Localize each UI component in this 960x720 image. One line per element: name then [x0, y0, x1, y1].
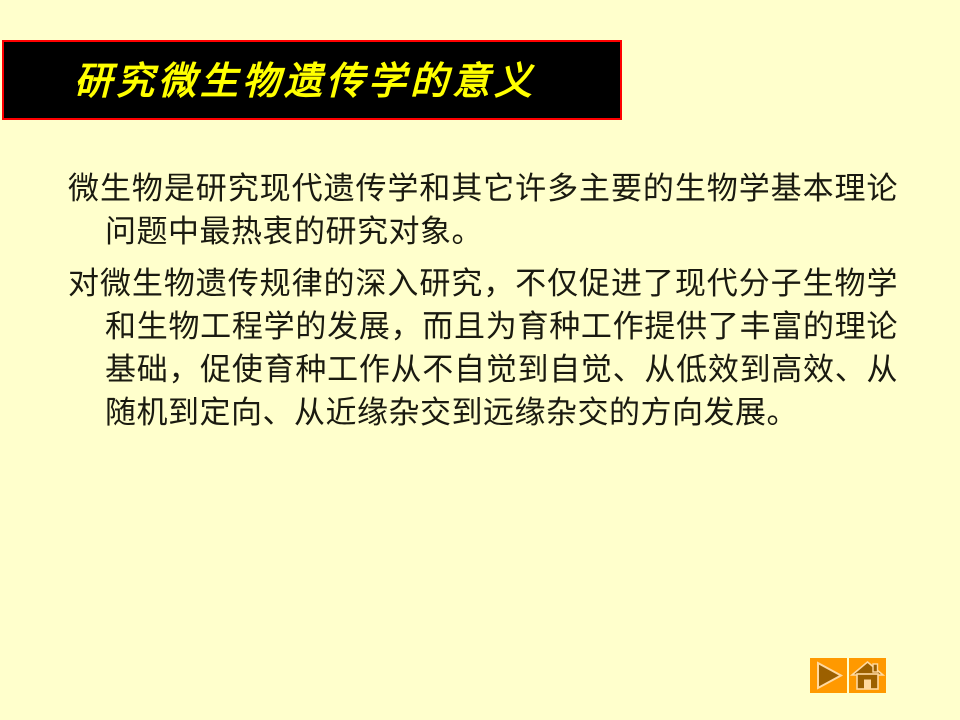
navigation-buttons	[810, 658, 886, 693]
next-slide-button[interactable]	[810, 658, 847, 693]
body-content: 微生物是研究现代遗传学和其它许多主要的生物学基本理论问题中最热衷的研究对象。 对…	[58, 168, 898, 444]
body-paragraph: 微生物是研究现代遗传学和其它许多主要的生物学基本理论问题中最热衷的研究对象。	[58, 168, 898, 254]
play-triangle-icon	[810, 658, 847, 693]
home-icon	[849, 658, 886, 693]
body-paragraph: 对微生物遗传规律的深入研究，不仅促进了现代分子生物学和生物工程学的发展，而且为育…	[58, 263, 898, 435]
slide-canvas: 研究微生物遗传学的意义 微生物是研究现代遗传学和其它许多主要的生物学基本理论问题…	[0, 0, 960, 720]
home-slide-button[interactable]	[849, 658, 886, 693]
page-title: 研究微生物遗传学的意义	[74, 50, 614, 112]
